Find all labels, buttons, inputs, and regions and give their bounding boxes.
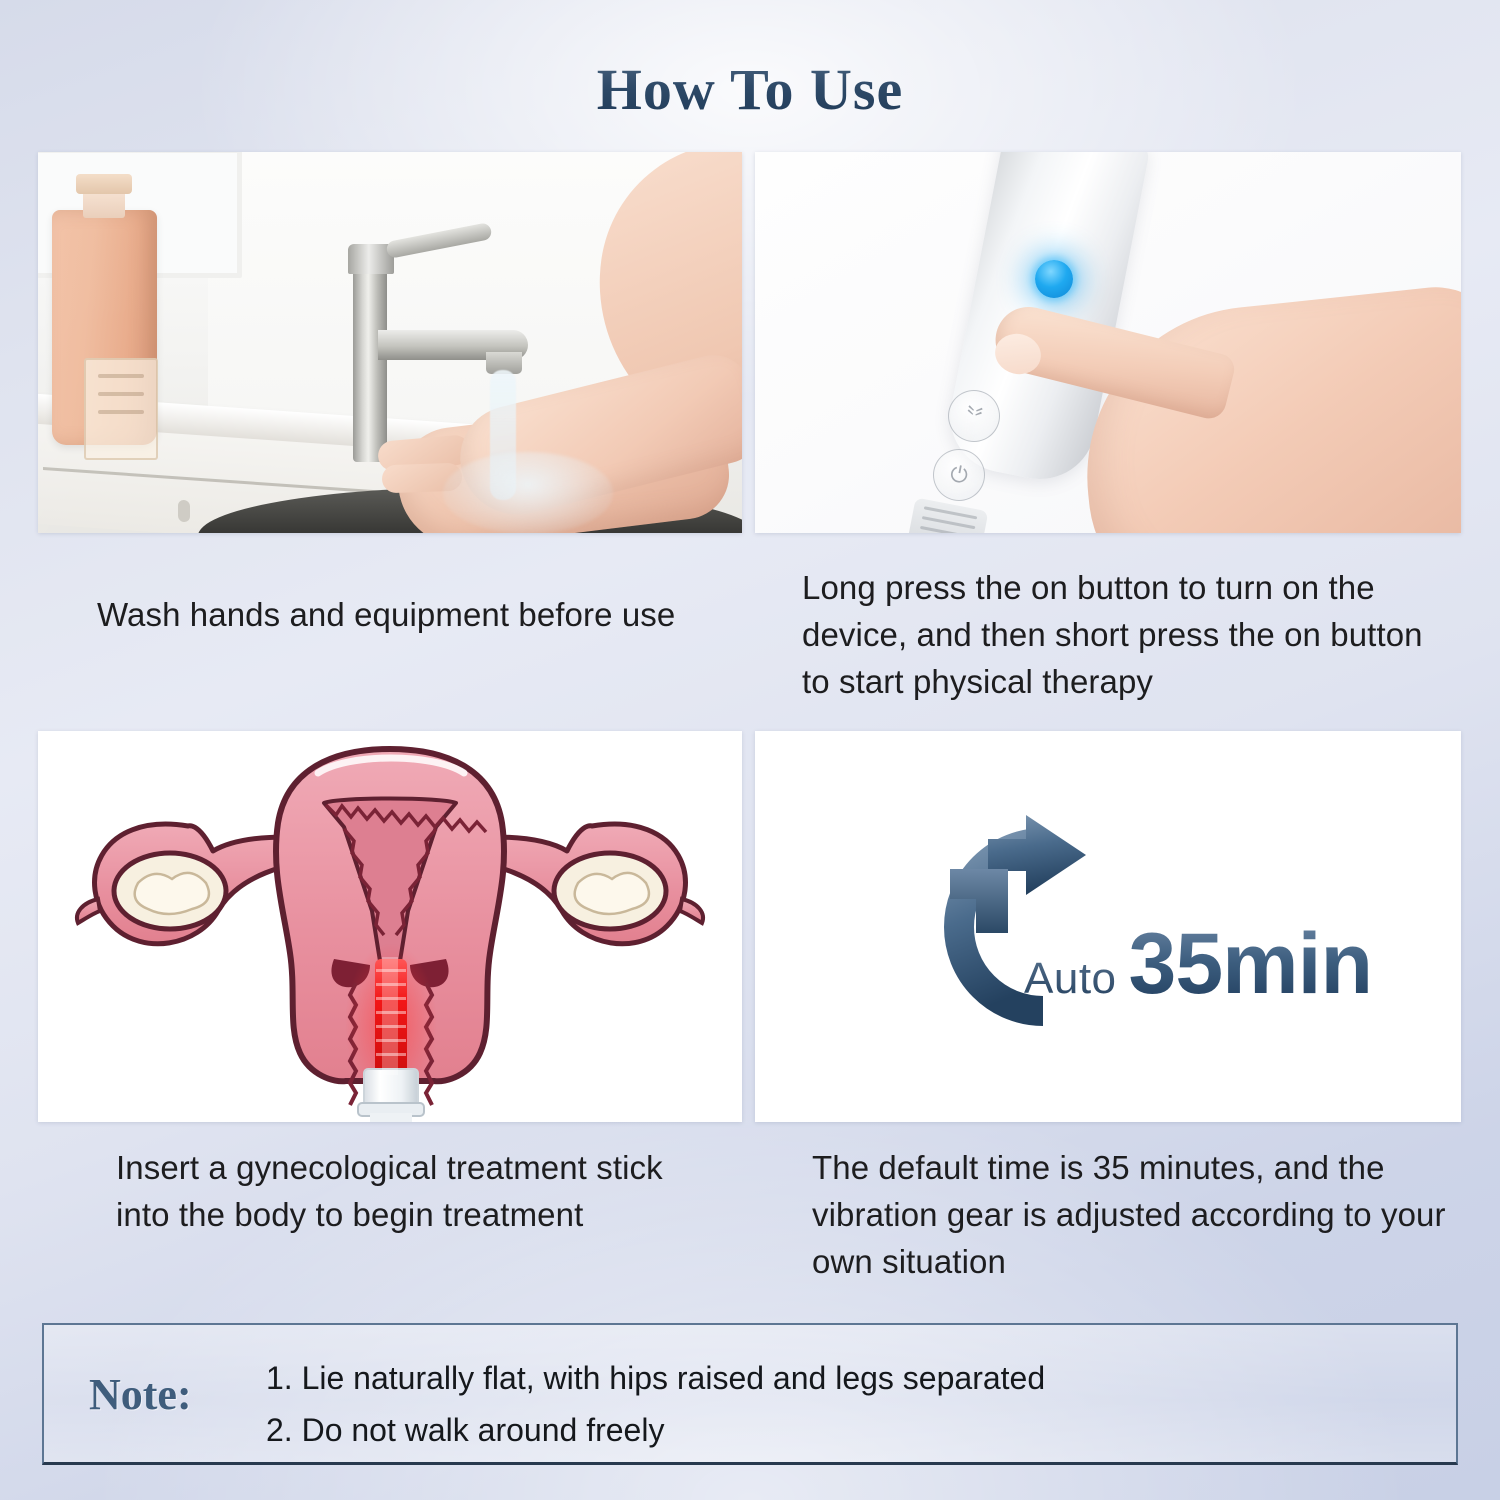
device-photo: 〝〞 ⏻ [755,152,1461,533]
step-4-image: Auto 35min [755,731,1461,1122]
note-item: 2. Do not walk around freely [266,1405,1045,1457]
note-box: Note: 1. Lie naturally flat, with hips r… [42,1323,1458,1465]
right-ovary-detail [575,873,649,914]
left-fimbria [77,899,100,923]
step-4-caption: The default time is 35 minutes, and the … [812,1145,1452,1286]
auto-label: Auto [1024,954,1117,1004]
step-3-caption: Insert a gynecological treatment stick i… [116,1145,716,1239]
vibration-icon: 〝〞 [945,387,1004,446]
step-1-image [38,152,742,533]
how-to-use-page: How To Use [0,0,1500,1500]
power-icon: ⏻ [930,446,989,505]
wand-highlight [382,957,398,1075]
right-fimbria [680,899,703,923]
note-item: 1. Lie naturally flat, with hips raised … [266,1353,1045,1405]
note-items: 1. Lie naturally flat, with hips raised … [266,1353,1045,1457]
hand [1070,280,1461,533]
step-2-caption: Long press the on button to turn on the … [802,565,1442,706]
treatment-wand-handle [370,1113,412,1122]
sink-photo [38,152,742,533]
uterus-diagram [38,731,742,1122]
step-3-image [38,731,742,1122]
timer-icon-wrapper: Auto 35min [755,731,1461,1122]
step-2-image: 〝〞 ⏻ [755,152,1461,533]
step-1-caption: Wash hands and equipment before use [97,592,717,639]
uterus-illustration-icon [38,731,742,1122]
page-title: How To Use [0,56,1500,123]
power-button[interactable]: ⏻ [929,445,990,506]
photo-highlight [38,152,742,533]
note-label: Note: [89,1369,192,1420]
timer-label-group: Auto 35min [1024,915,1372,1014]
left-ovary-detail [135,873,209,914]
duration-label: 35min [1129,915,1373,1014]
